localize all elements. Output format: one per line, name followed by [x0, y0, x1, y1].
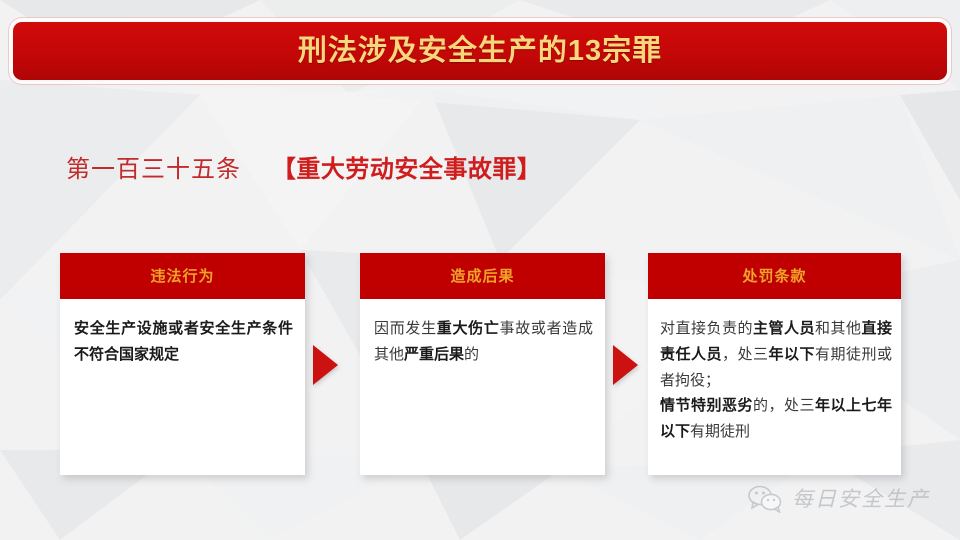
card-header-label: 造成后果	[450, 269, 514, 284]
arrow-right-icon	[613, 345, 638, 385]
subtitle-crime-name: 【重大劳动安全事故罪】	[272, 156, 542, 183]
page-title: 刑法涉及安全生产的13宗罪	[298, 37, 662, 66]
wechat-icon	[748, 485, 782, 513]
watermark: 每日安全生产	[748, 485, 930, 513]
card-body: 安全生产设施或者安全生产条件不符合国家规定	[60, 299, 305, 378]
card-body: 对直接负责的主管人员和其他直接责任人员，处三年以下有期徒刑或者拘役；情节特别恶劣…	[648, 299, 901, 455]
card-header: 违法行为	[60, 253, 305, 299]
slide-title-bar: 刑法涉及安全生产的13宗罪	[13, 22, 947, 80]
card-penalty-clause: 处罚条款 对直接负责的主管人员和其他直接责任人员，处三年以下有期徒刑或者拘役；情…	[648, 253, 901, 475]
card-header-label: 违法行为	[150, 269, 214, 284]
slide-canvas: 刑法涉及安全生产的13宗罪 第一百三十五条 【重大劳动安全事故罪】 违法行为 安…	[0, 0, 960, 540]
card-header-label: 处罚条款	[742, 269, 806, 284]
card-resulting-consequence: 造成后果 因而发生重大伤亡事故或者造成其他严重后果的	[360, 253, 605, 475]
card-violation-behavior: 违法行为 安全生产设施或者安全生产条件不符合国家规定	[60, 253, 305, 475]
card-body: 因而发生重大伤亡事故或者造成其他严重后果的	[360, 299, 605, 378]
subtitle-article-number: 第一百三十五条	[66, 156, 241, 183]
subtitle: 第一百三十五条 【重大劳动安全事故罪】	[66, 158, 541, 182]
arrow-right-icon	[313, 345, 338, 385]
card-header: 造成后果	[360, 253, 605, 299]
watermark-label: 每日安全生产	[792, 489, 930, 510]
card-header: 处罚条款	[648, 253, 901, 299]
